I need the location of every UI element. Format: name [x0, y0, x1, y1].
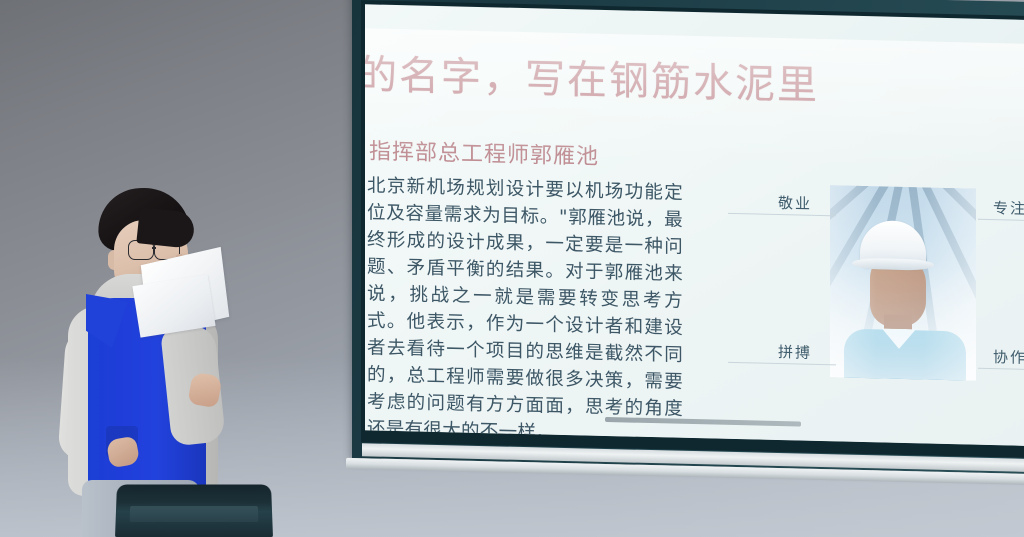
photo-overexposure-haze [830, 185, 976, 380]
value-rule-top-right [978, 219, 1024, 222]
slide-subtitle: 指挥部总工程师郭雁池 [369, 133, 599, 170]
chair-backrest-slot [130, 506, 259, 522]
slide-canvas[interactable]: 的名字，写在钢筋水泥里 指挥部总工程师郭雁池 北京新机场规划设计要以机场功能定位… [365, 28, 1024, 446]
value-word-top-right: 专注 [993, 197, 1024, 219]
classroom-scene: 的名字，写在钢筋水泥里 指挥部总工程师郭雁池 北京新机场规划设计要以机场功能定位… [0, 0, 1024, 537]
screen-surface[interactable]: 的名字，写在钢筋水泥里 指挥部总工程师郭雁池 北京新机场规划设计要以机场功能定位… [365, 4, 1024, 446]
chair [116, 484, 272, 537]
slide-body-text: 北京新机场规划设计要以机场功能定位及容量需求为目标。"郭雁池说，最终形成的设计成… [367, 172, 683, 446]
engineer-photo [830, 185, 976, 380]
value-word-top-left: 敬业 [778, 192, 812, 214]
value-rule-bottom-left [728, 362, 836, 366]
value-words-block: 敬业 专注 拼搏 协作 [695, 176, 1024, 394]
slide-title: 的名字，写在钢筋水泥里 [365, 54, 819, 107]
projection-screen[interactable]: 的名字，写在钢筋水泥里 指挥部总工程师郭雁池 北京新机场规划设计要以机场功能定位… [352, 0, 1024, 474]
value-rule-top-left [728, 213, 836, 217]
glasses-bridge [152, 247, 156, 249]
chair-backrest [115, 484, 273, 537]
presenter-hair-fringe [136, 207, 195, 249]
value-word-bottom-right: 协作 [993, 346, 1024, 368]
value-rule-bottom-right [978, 368, 1024, 371]
value-word-bottom-left: 拼搏 [778, 341, 812, 363]
